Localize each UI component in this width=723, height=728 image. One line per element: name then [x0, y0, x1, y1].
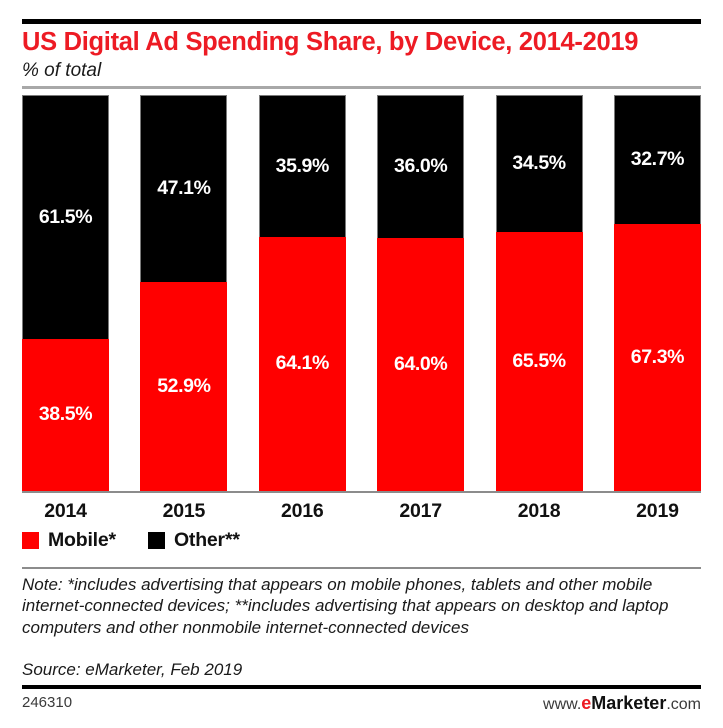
- chart-title: US Digital Ad Spending Share, by Device,…: [22, 28, 712, 57]
- legend-swatch-other: [148, 532, 165, 549]
- brand-e: e: [581, 693, 591, 713]
- x-axis-line: [22, 491, 701, 493]
- bar-value-label-other: 35.9%: [276, 157, 329, 177]
- x-axis-label: 2018: [496, 500, 583, 523]
- bar-segment-other: 35.9%: [259, 95, 346, 237]
- x-axis-label: 2017: [377, 500, 464, 523]
- bar-value-label-other: 47.1%: [157, 179, 210, 199]
- bar-column: 34.5%65.5%: [496, 95, 583, 491]
- chart-legend: Mobile*Other**: [22, 529, 272, 552]
- bar-column: 47.1%52.9%: [140, 95, 227, 491]
- x-axis-label: 2019: [614, 500, 701, 523]
- chart-note: Note: *includes advertising that appears…: [22, 574, 682, 638]
- emarketer-logo: www.eMarketer.com: [543, 693, 701, 714]
- bar-value-label-other: 61.5%: [39, 208, 92, 228]
- bar-segment-mobile: 64.1%: [259, 237, 346, 491]
- bar-segment-other: 36.0%: [377, 95, 464, 238]
- bar-segment-other: 47.1%: [140, 95, 227, 282]
- legend-item[interactable]: Mobile*: [22, 529, 116, 552]
- bar-value-label-mobile: 38.5%: [39, 405, 92, 425]
- bar-value-label-mobile: 67.3%: [631, 348, 684, 368]
- x-axis-label: 2016: [259, 500, 346, 523]
- bar-value-label-mobile: 64.1%: [276, 354, 329, 374]
- legend-label: Mobile*: [48, 529, 116, 552]
- bar-value-label-mobile: 65.5%: [512, 352, 565, 372]
- bar-segment-mobile: 64.0%: [377, 238, 464, 491]
- note-divider: [22, 567, 701, 569]
- emarketer-chart-page: US Digital Ad Spending Share, by Device,…: [0, 0, 723, 728]
- bar-column: 35.9%64.1%: [259, 95, 346, 491]
- chart-subtitle: % of total: [22, 60, 101, 82]
- bar-segment-mobile: 52.9%: [140, 282, 227, 491]
- brand-www: www.: [543, 696, 581, 713]
- header-divider: [22, 86, 701, 89]
- legend-label: Other**: [174, 529, 240, 552]
- bar-value-label-other: 36.0%: [394, 157, 447, 177]
- bar-value-label-mobile: 64.0%: [394, 355, 447, 375]
- bar-value-label-other: 34.5%: [512, 154, 565, 174]
- legend-swatch-mobile: [22, 532, 39, 549]
- chart-id: 246310: [22, 694, 72, 711]
- bar-segment-mobile: 67.3%: [614, 224, 701, 491]
- bar-segment-mobile: 38.5%: [22, 339, 109, 491]
- x-axis-label: 2015: [140, 500, 227, 523]
- bar-value-label-other: 32.7%: [631, 150, 684, 170]
- x-axis-labels: 201420152016201720182019: [22, 500, 701, 523]
- bar-segment-other: 34.5%: [496, 95, 583, 232]
- brand-com: .com: [666, 696, 701, 713]
- chart-source: Source: eMarketer, Feb 2019: [22, 660, 242, 680]
- bar-column: 36.0%64.0%: [377, 95, 464, 491]
- bar-segment-other: 32.7%: [614, 95, 701, 224]
- bar-group: 61.5%38.5%47.1%52.9%35.9%64.1%36.0%64.0%…: [22, 95, 701, 491]
- x-axis-label: 2014: [22, 500, 109, 523]
- footer-divider: [22, 685, 701, 689]
- bar-segment-other: 61.5%: [22, 95, 109, 339]
- bar-segment-mobile: 65.5%: [496, 232, 583, 491]
- brand-marketer: Marketer: [591, 693, 666, 713]
- bar-column: 32.7%67.3%: [614, 95, 701, 491]
- bar-column: 61.5%38.5%: [22, 95, 109, 491]
- chart-plot-area: 61.5%38.5%47.1%52.9%35.9%64.1%36.0%64.0%…: [22, 95, 701, 491]
- legend-item[interactable]: Other**: [148, 529, 240, 552]
- bar-value-label-mobile: 52.9%: [157, 377, 210, 397]
- top-divider: [22, 19, 701, 24]
